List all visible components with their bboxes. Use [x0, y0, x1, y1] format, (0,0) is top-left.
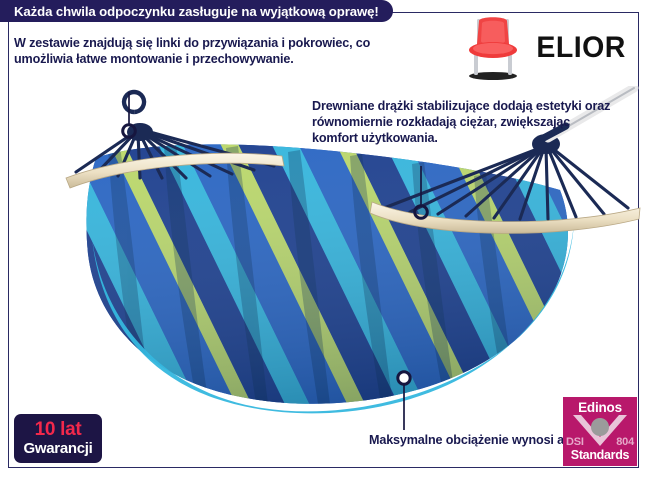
red-chair-icon [462, 14, 524, 82]
callout-ropes: W zestawie znajdują się linki do przywią… [14, 35, 396, 67]
callout-bars-text: Drewniane drążki stabilizujące dodają es… [312, 98, 612, 146]
callout-bars: Drewniane drążki stabilizujące dodają es… [312, 98, 612, 146]
brand-name: ELIOR [536, 33, 625, 63]
edinos-right-code: 804 [616, 436, 634, 448]
warranty-label: Gwarancji [24, 440, 93, 457]
edinos-standards-badge: Edinos DSI 804 Standards [563, 397, 637, 466]
edinos-left-code: DSI [566, 436, 584, 448]
ring-marker-ropes [123, 125, 136, 138]
headline-text: Każda chwila odpoczynku zasługuje na wyj… [14, 4, 379, 19]
headline-banner: Każda chwila odpoczynku zasługuje na wyj… [0, 0, 393, 22]
warranty-years: 10 lat [35, 420, 82, 439]
edinos-title: Edinos [563, 397, 637, 415]
ring-marker-bars [415, 206, 428, 219]
edinos-subtitle: Standards [563, 449, 637, 462]
brand-logo: ELIOR [462, 14, 628, 82]
edinos-mark: DSI 804 [563, 415, 637, 449]
warranty-badge: 10 lat Gwarancji [14, 414, 102, 463]
callout-ropes-text: W zestawie znajdują się linki do przywią… [14, 35, 396, 67]
dot-marker-load [398, 372, 410, 384]
infographic-canvas: Każda chwila odpoczynku zasługuje na wyj… [0, 0, 650, 477]
